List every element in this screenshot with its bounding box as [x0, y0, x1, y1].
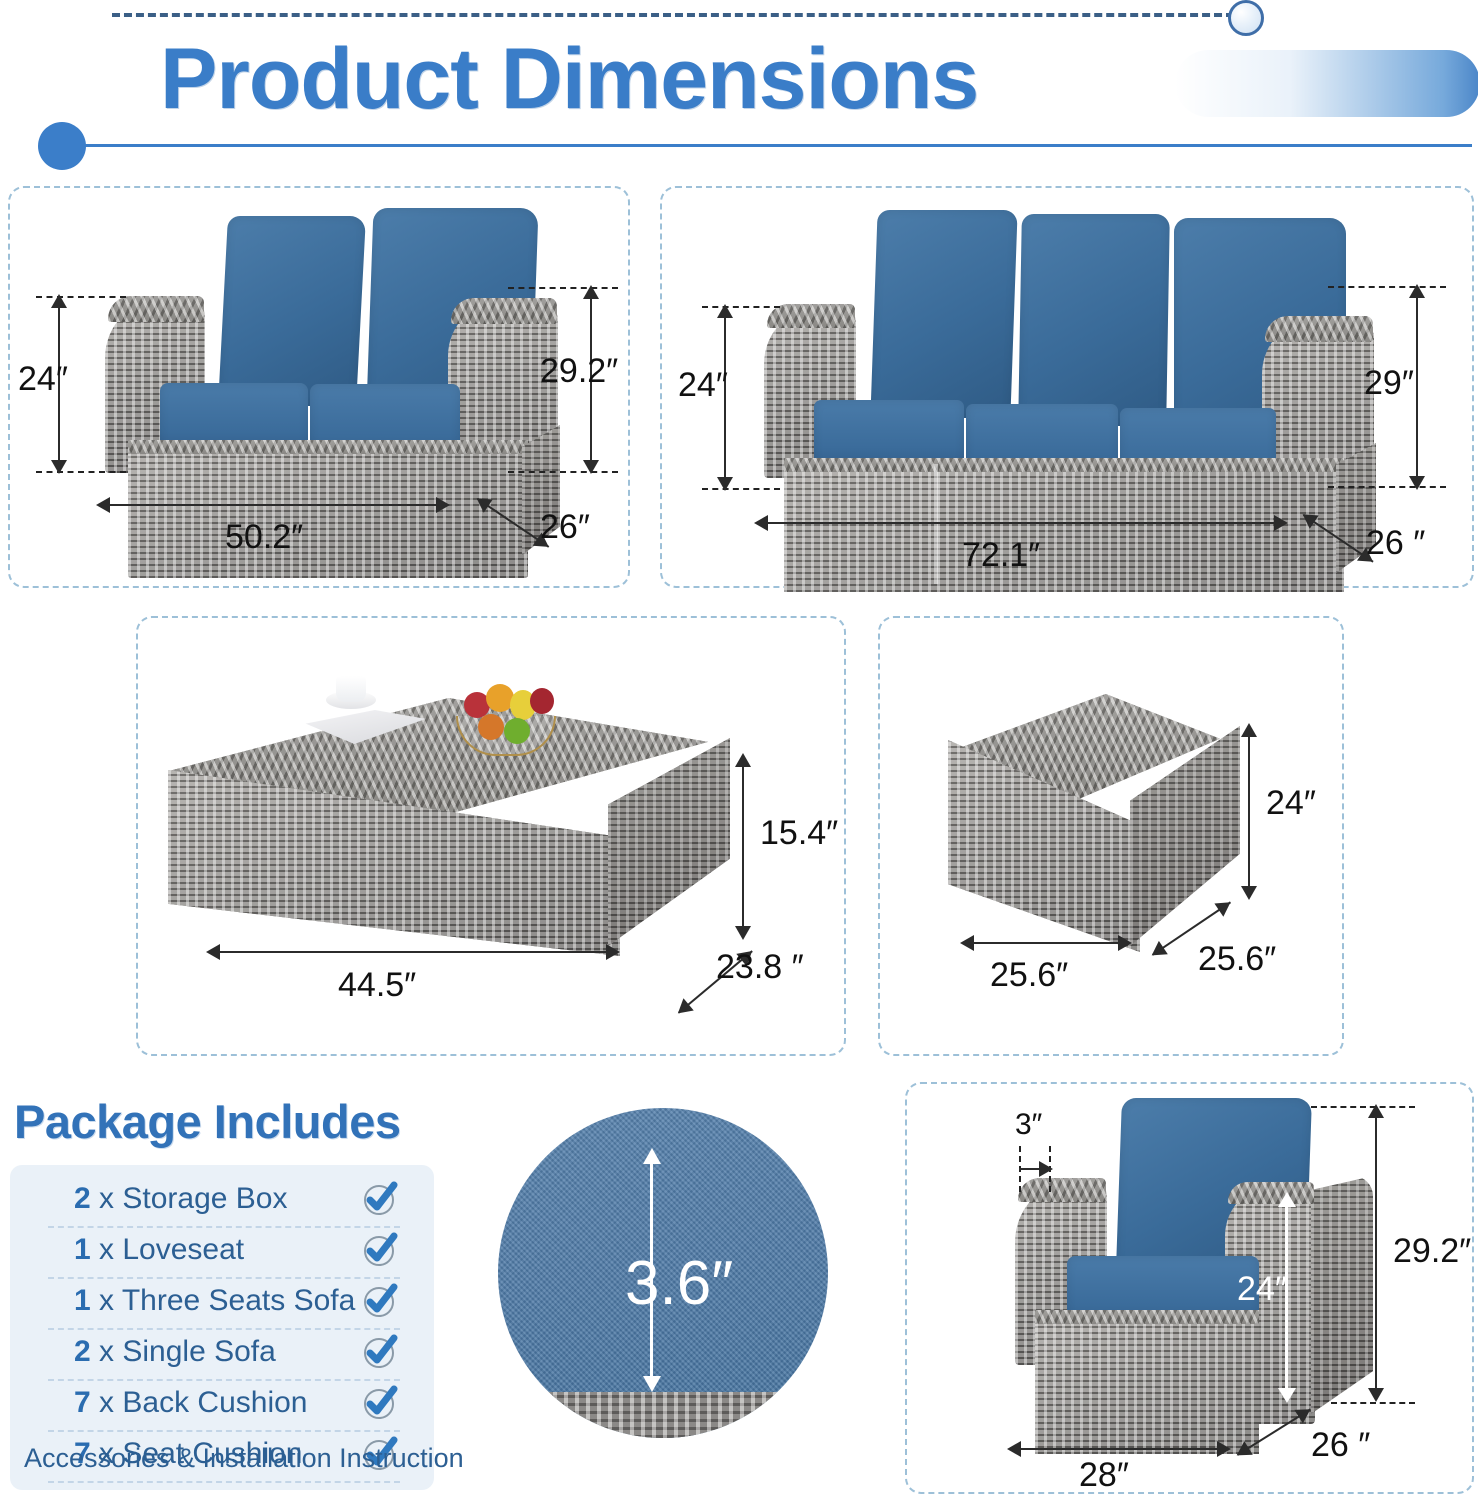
storage-box-width-label: 25.6″	[990, 956, 1068, 995]
check-circle-icon	[360, 1281, 400, 1321]
package-includes-title: Package Includes	[14, 1094, 400, 1149]
item-qty: 7	[74, 1386, 91, 1419]
list-item: 2 x Single Sofa	[36, 1332, 414, 1378]
list-item: 2 x Storage Box	[36, 1179, 414, 1225]
single-sofa-illustration	[907, 1084, 1472, 1492]
sofa-depth-label: 26 ″	[1366, 524, 1425, 563]
sofa-seat-height-label: 24″	[678, 366, 728, 405]
loveseat-illustration	[10, 188, 628, 586]
single-sofa-overall-height-label: 29.2″	[1393, 1232, 1471, 1271]
coffee-table-depth-label: 23.8 ″	[716, 948, 804, 987]
package-note: Accessories & Installation Instruction	[24, 1443, 464, 1474]
item-label: Loveseat	[122, 1233, 244, 1266]
header-underline	[72, 144, 1472, 147]
header-dashed-rule	[112, 13, 1234, 17]
header-gradient-bar	[1175, 50, 1478, 117]
cushion-thickness-label: 3.6″	[625, 1248, 733, 1319]
header: Product Dimensions	[0, 0, 1478, 178]
single-sofa-depth-label: 26 ″	[1311, 1426, 1370, 1465]
single-sofa-armrest-gap-label: 3″	[1015, 1108, 1042, 1142]
item-sep: x	[99, 1284, 114, 1317]
sofa-width-label: 72.1″	[962, 536, 1040, 575]
panel-three-seat-sofa: 24″ 29″ 72.1″ 26 ″	[660, 186, 1474, 588]
panel-coffee-table: 15.4″ 44.5″ 23.8 ″	[136, 616, 846, 1056]
check-circle-icon	[360, 1179, 400, 1219]
item-label: Single Sofa	[122, 1335, 275, 1368]
panel-loveseat: 24″ 29.2″ 50.2″ 26″	[8, 186, 630, 588]
list-item: 7 x Back Cushion	[36, 1383, 414, 1429]
package-includes-list: 2 x Storage Box 1 x Loveseat 1 x Three S…	[10, 1165, 434, 1490]
item-sep: x	[99, 1386, 114, 1419]
outline-circle-icon	[1228, 0, 1264, 36]
page-title: Product Dimensions	[160, 30, 978, 129]
single-sofa-seat-height-label: 24″	[1237, 1270, 1287, 1309]
item-qty: 1	[74, 1233, 91, 1266]
single-sofa-width-label: 28″	[1079, 1456, 1129, 1495]
storage-box-height-label: 24″	[1266, 784, 1316, 823]
item-label: Three Seats Sofa	[122, 1284, 355, 1317]
loveseat-overall-height-label: 29.2″	[540, 352, 618, 391]
cushion-detail-wicker-base	[498, 1392, 828, 1438]
loveseat-seat-height-label: 24″	[18, 360, 68, 399]
panel-single-sofa: 3″ 29.2″ 24″ 28″ 26 ″	[905, 1082, 1474, 1494]
item-qty: 2	[74, 1335, 91, 1368]
item-qty: 1	[74, 1284, 91, 1317]
check-circle-icon	[360, 1332, 400, 1372]
loveseat-width-label: 50.2″	[225, 518, 303, 557]
storage-box-depth-label: 25.6″	[1198, 940, 1276, 979]
check-circle-icon	[360, 1383, 400, 1423]
item-qty: 2	[74, 1182, 91, 1215]
item-sep: x	[99, 1182, 114, 1215]
storage-box-illustration	[880, 618, 1342, 1054]
item-sep: x	[99, 1233, 114, 1266]
list-item: 1 x Three Seats Sofa	[36, 1281, 414, 1327]
check-circle-icon	[360, 1230, 400, 1270]
item-sep: x	[99, 1335, 114, 1368]
coffee-table-illustration	[138, 618, 844, 1054]
item-label: Back Cushion	[122, 1386, 307, 1419]
item-label: Storage Box	[122, 1182, 287, 1215]
coffee-table-height-label: 15.4″	[760, 814, 838, 853]
panel-storage-box: 24″ 25.6″ 25.6″	[878, 616, 1344, 1056]
coffee-table-width-label: 44.5″	[338, 966, 416, 1005]
loveseat-depth-label: 26″	[540, 508, 590, 547]
three-seat-sofa-illustration	[662, 188, 1472, 586]
sofa-overall-height-label: 29″	[1364, 364, 1414, 403]
list-item: 1 x Loveseat	[36, 1230, 414, 1276]
